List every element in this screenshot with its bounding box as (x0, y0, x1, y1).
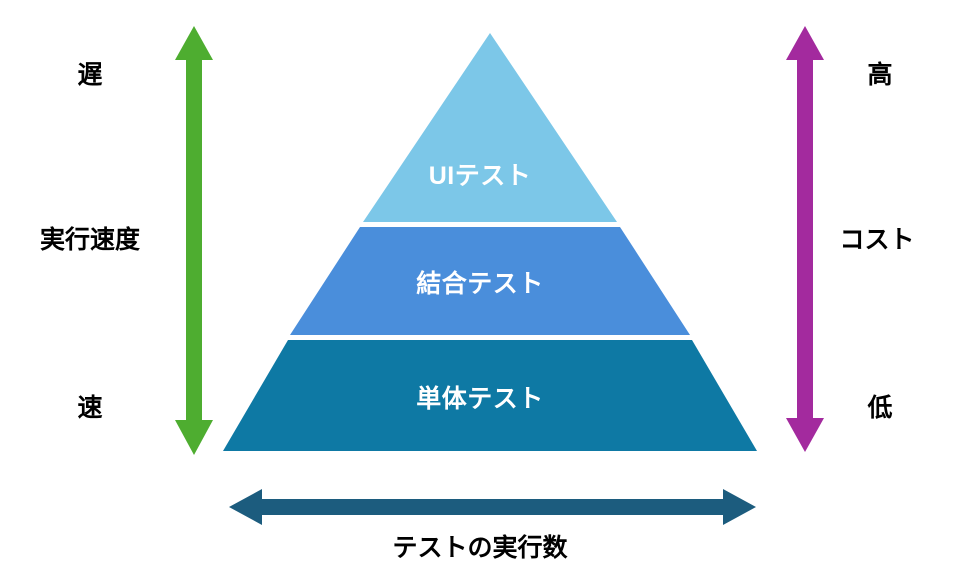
left-axis-bottom-label: 速 (10, 388, 170, 424)
right-axis-bottom-label: 低 (820, 388, 940, 424)
pyramid-label-ui: UIテスト (0, 156, 960, 192)
pyramid-label-ui-text: UIテスト (429, 156, 532, 192)
test-count-arrow (229, 489, 756, 525)
left-axis-name-label: 実行速度 (10, 220, 170, 256)
test-pyramid-diagram: UIテスト 結合テスト 単体テスト 遅 実行速度 速 高 コスト 低 テストの実… (0, 0, 960, 572)
pyramid-label-integration: 結合テスト (0, 264, 960, 300)
pyramid-label-unit-text: 単体テスト (416, 379, 544, 415)
pyramid-layer-ui[interactable] (363, 33, 617, 222)
right-axis-top-label: 高 (820, 55, 940, 91)
right-axis-name-label: コスト (812, 220, 942, 256)
left-axis-top-label: 遅 (10, 55, 170, 91)
bottom-axis-name-label: テストの実行数 (0, 528, 960, 564)
pyramid-label-integration-text: 結合テスト (416, 264, 544, 300)
